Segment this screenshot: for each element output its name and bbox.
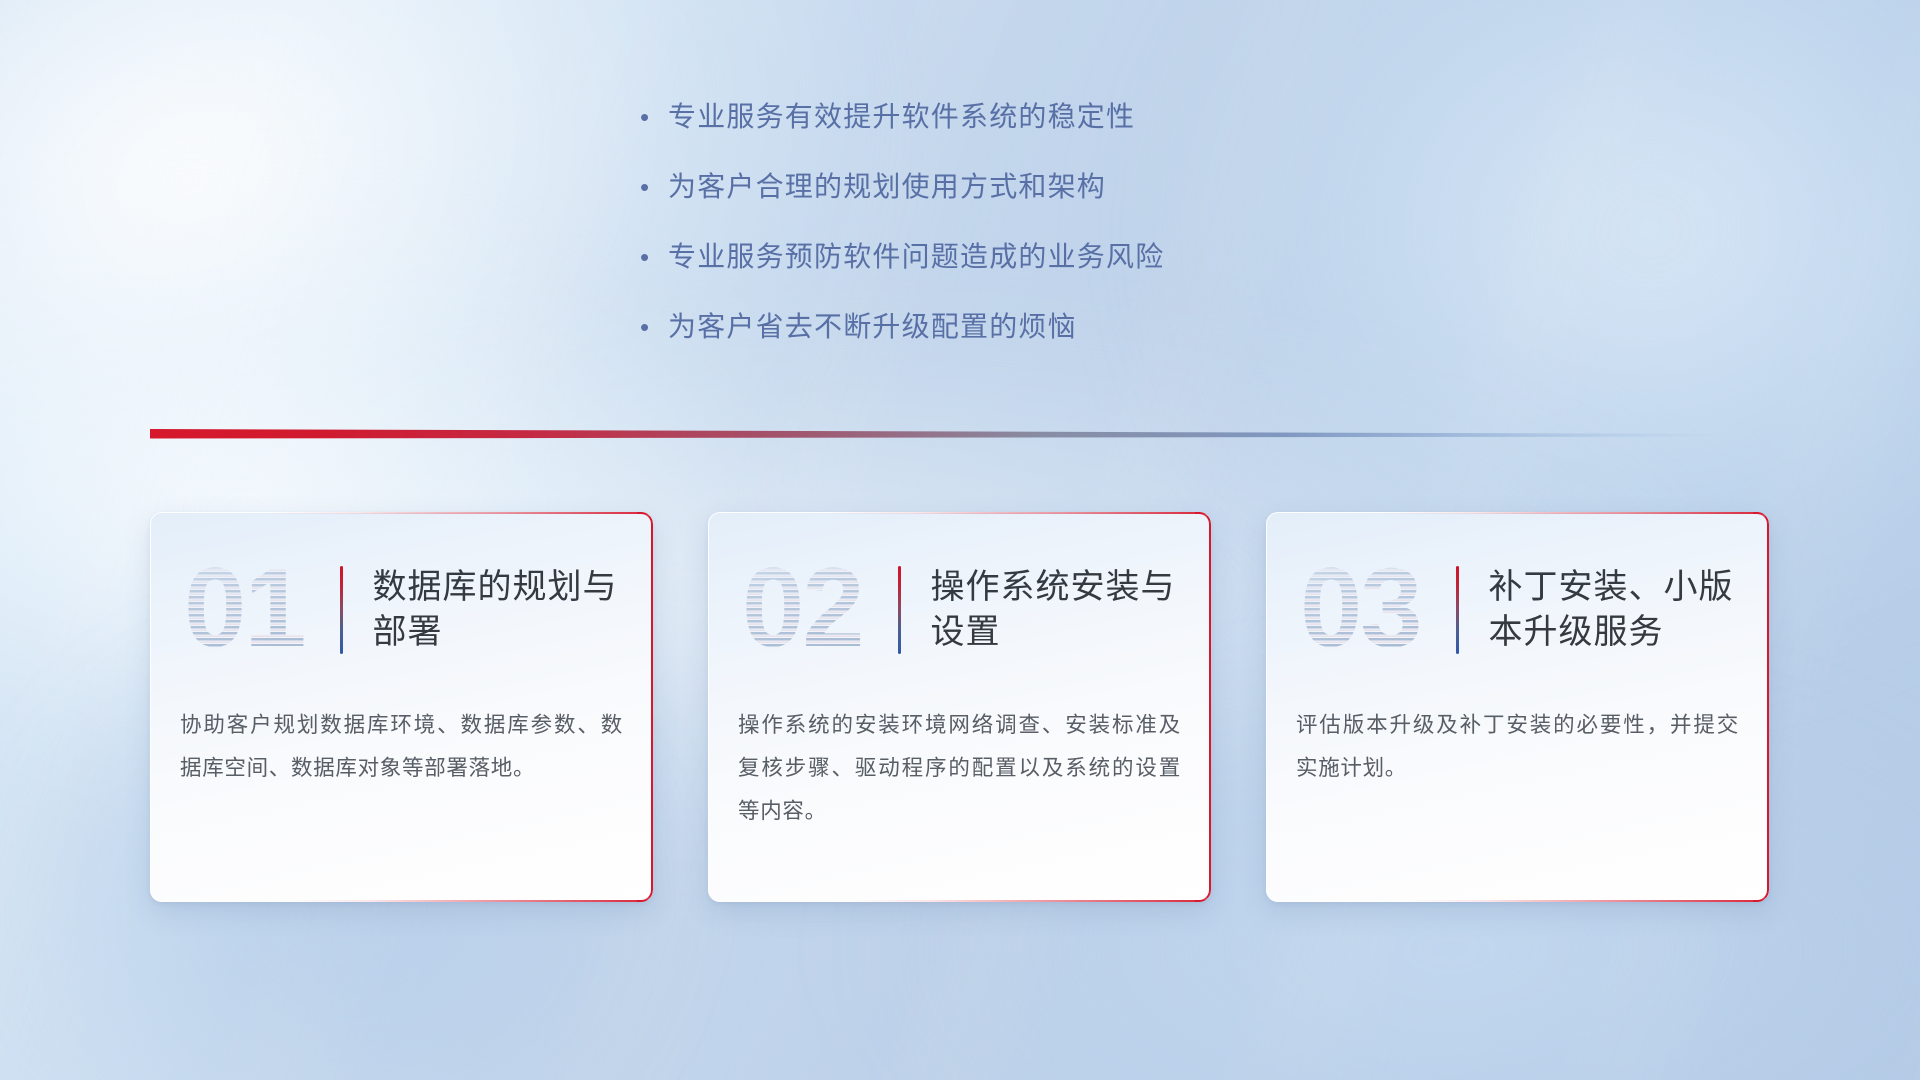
- striped-number-icon: 02: [740, 554, 890, 666]
- list-item: • 为客户合理的规划使用方式和架构: [640, 165, 1400, 205]
- watermark-digits: 03: [1300, 554, 1421, 666]
- card-title-rule: [1456, 566, 1459, 654]
- service-card[interactable]: 03 补丁安装、小版本升级服务 评估版本升级及补丁安装的必要性，并提交实施计划。: [1266, 512, 1769, 902]
- card-description: 评估版本升级及补丁安装的必要性，并提交实施计划。: [1266, 704, 1769, 790]
- card-number-watermark: 02: [740, 554, 890, 666]
- card-accent-bottom: [849, 900, 1211, 902]
- bullet-text: 专业服务有效提升软件系统的稳定性: [668, 95, 1400, 135]
- card-header: 02 操作系统安装与设置: [708, 512, 1211, 708]
- benefits-bullet-list: • 专业服务有效提升软件系统的稳定性 • 为客户合理的规划使用方式和架构 • 专…: [640, 95, 1400, 375]
- list-item: • 为客户省去不断升级配置的烦恼: [640, 305, 1400, 345]
- card-title: 操作系统安装与设置: [931, 565, 1212, 655]
- card-title: 数据库的规划与部署: [373, 565, 654, 655]
- watermark-digits: 02: [742, 554, 863, 666]
- bullet-text: 专业服务预防软件问题造成的业务风险: [668, 235, 1400, 275]
- bullet-text: 为客户省去不断升级配置的烦恼: [668, 305, 1400, 345]
- divider-wedge-icon: [150, 424, 1770, 446]
- card-title: 补丁安装、小版本升级服务: [1489, 565, 1770, 655]
- bullet-text: 为客户合理的规划使用方式和架构: [668, 165, 1400, 205]
- list-item: • 专业服务预防软件问题造成的业务风险: [640, 235, 1400, 275]
- section-divider: [150, 424, 1770, 446]
- watermark-digits: 01: [184, 554, 305, 666]
- bullet-dot-icon: •: [640, 174, 668, 200]
- bullet-dot-icon: •: [640, 314, 668, 340]
- card-title-rule: [898, 566, 901, 654]
- card-title-rule: [340, 566, 343, 654]
- bullet-dot-icon: •: [640, 104, 668, 130]
- card-accent-bottom: [1407, 900, 1769, 902]
- bullet-dot-icon: •: [640, 244, 668, 270]
- card-number-watermark: 03: [1298, 554, 1448, 666]
- service-card[interactable]: 02 操作系统安装与设置 操作系统的安装环境网络调查、安装标准及复核步骤、驱动程…: [708, 512, 1211, 902]
- service-card-row: 01 数据库的规划与部署 协助客户规划数据库环境、数据库参数、数据库空间、数据库…: [150, 512, 1770, 922]
- card-description: 协助客户规划数据库环境、数据库参数、数据库空间、数据库对象等部署落地。: [150, 704, 653, 790]
- striped-number-icon: 01: [182, 554, 332, 666]
- card-header: 01 数据库的规划与部署: [150, 512, 653, 708]
- slide-canvas: • 专业服务有效提升软件系统的稳定性 • 为客户合理的规划使用方式和架构 • 专…: [0, 0, 1920, 1080]
- striped-number-icon: 03: [1298, 554, 1448, 666]
- card-header: 03 补丁安装、小版本升级服务: [1266, 512, 1769, 708]
- card-accent-bottom: [291, 900, 653, 902]
- card-description: 操作系统的安装环境网络调查、安装标准及复核步骤、驱动程序的配置以及系统的设置等内…: [708, 704, 1211, 833]
- service-card[interactable]: 01 数据库的规划与部署 协助客户规划数据库环境、数据库参数、数据库空间、数据库…: [150, 512, 653, 902]
- list-item: • 专业服务有效提升软件系统的稳定性: [640, 95, 1400, 135]
- card-number-watermark: 01: [182, 554, 332, 666]
